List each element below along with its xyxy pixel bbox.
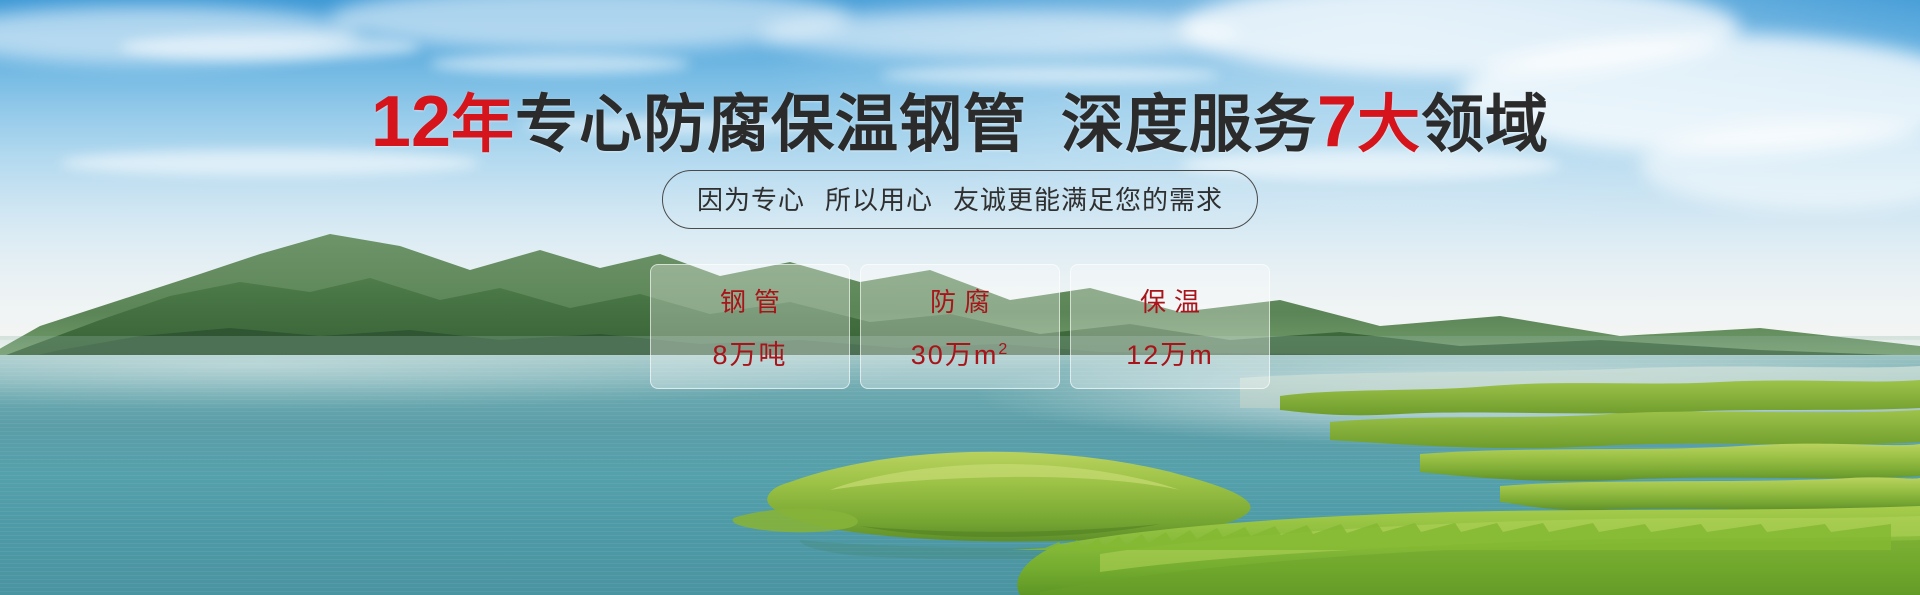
headline-fields-unit: 大 (1357, 90, 1421, 160)
headline-years-number: 12 (371, 82, 451, 162)
banner-subtitle: 因为专心所以用心友诚更能满足您的需求 (662, 170, 1258, 229)
headline-fields-text: 领域 (1421, 90, 1549, 160)
headline-fields-number: 7 (1317, 82, 1357, 162)
stat-card-anticorrosion: 防腐 30万m2 (860, 264, 1060, 389)
headline-main-text: 专心防腐保温钢管 (515, 90, 1027, 160)
subtitle-segment-3: 友诚更能满足您的需求 (953, 185, 1223, 215)
subtitle-segment-1: 因为专心 (697, 185, 805, 215)
hero-banner: 12年专心防腐保温钢管深度服务7大领域 因为专心所以用心友诚更能满足您的需求 钢… (0, 0, 1920, 595)
stat-card-value: 30万m2 (911, 333, 1009, 372)
headline-years-unit: 年 (451, 90, 515, 160)
stat-card-label: 保温 (1132, 282, 1208, 319)
banner-headline: 12年专心防腐保温钢管深度服务7大领域 (0, 86, 1920, 158)
stat-card-steel-pipe: 钢管 8万吨 (650, 264, 850, 389)
stat-card-value-text: 12万m (1126, 340, 1214, 370)
headline-service-text: 深度服务 (1061, 90, 1317, 160)
subtitle-segment-2: 所以用心 (825, 185, 933, 215)
stat-card-value: 8万吨 (712, 333, 787, 372)
stat-card-label: 防腐 (922, 282, 998, 319)
stat-card-label: 钢管 (712, 282, 788, 319)
stat-card-value-text: 30万m (911, 340, 999, 370)
stat-card-value-text: 8万吨 (712, 340, 787, 370)
stat-card-value-exponent: 2 (998, 341, 1009, 358)
stat-card-value: 12万m (1126, 333, 1214, 372)
stat-card-insulation: 保温 12万m (1070, 264, 1270, 389)
stat-cards: 钢管 8万吨 防腐 30万m2 保温 12万m (650, 264, 1270, 389)
banner-content: 12年专心防腐保温钢管深度服务7大领域 因为专心所以用心友诚更能满足您的需求 钢… (0, 0, 1920, 595)
